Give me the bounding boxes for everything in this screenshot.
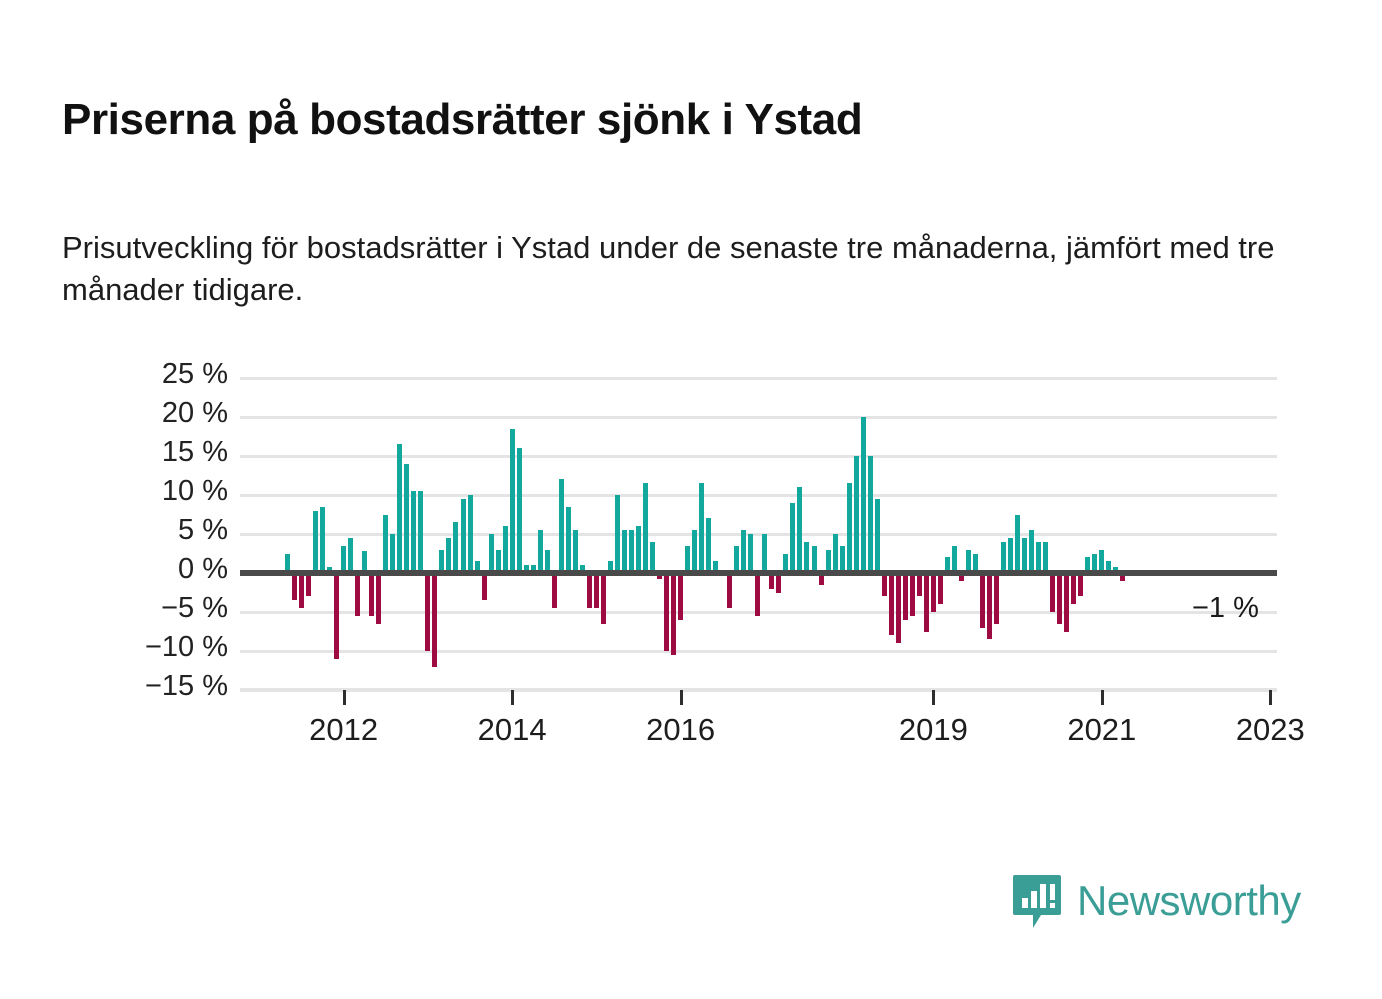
chart-bar bbox=[552, 573, 557, 608]
chart-bar bbox=[348, 538, 353, 573]
chart-bar bbox=[601, 573, 606, 624]
chart-bar bbox=[1050, 573, 1055, 612]
x-axis-tick-mark bbox=[680, 690, 683, 705]
chart-bar bbox=[952, 546, 957, 573]
chart-bar bbox=[678, 573, 683, 620]
chart-bar bbox=[664, 573, 669, 651]
chart-bar bbox=[748, 534, 753, 573]
x-axis-tick-mark bbox=[932, 690, 935, 705]
chart-bar bbox=[573, 530, 578, 573]
chart-bar bbox=[854, 456, 859, 573]
y-axis-tick-label: 5 % bbox=[0, 514, 228, 547]
chart-bar bbox=[292, 573, 297, 600]
chart-bar bbox=[840, 546, 845, 573]
chart-bar bbox=[1015, 515, 1020, 574]
chart-bar bbox=[383, 515, 388, 574]
x-axis-tick-label: 2012 bbox=[309, 712, 378, 748]
chart-bar bbox=[1064, 573, 1069, 632]
logo-wordmark: Newsworthy bbox=[1077, 877, 1301, 925]
chart-bar bbox=[692, 530, 697, 573]
chart-bar bbox=[790, 503, 795, 573]
chart-bar bbox=[1043, 542, 1048, 573]
chart-bar bbox=[699, 483, 704, 573]
chart-bar bbox=[1001, 542, 1006, 573]
chart-bar bbox=[538, 530, 543, 573]
chart-bar bbox=[797, 487, 802, 573]
chart-bar bbox=[594, 573, 599, 608]
chart-bar bbox=[861, 417, 866, 573]
chart-bar bbox=[306, 573, 311, 596]
chart-bar bbox=[868, 456, 873, 573]
chart-bar bbox=[706, 518, 711, 573]
chart-bar bbox=[938, 573, 943, 604]
chart-bar bbox=[411, 491, 416, 573]
chart-bar bbox=[432, 573, 437, 667]
infographic-page: Priserna på bostadsrätter sjönk i Ystad … bbox=[0, 0, 1382, 999]
chart-bar bbox=[1022, 538, 1027, 573]
chart-bar bbox=[804, 542, 809, 573]
chart-bar bbox=[875, 499, 880, 573]
chart-bar bbox=[734, 546, 739, 573]
chart-bar bbox=[762, 534, 767, 573]
chart-bar bbox=[517, 448, 522, 573]
chart-bar bbox=[376, 573, 381, 624]
chart-bar bbox=[425, 573, 430, 651]
chart-bar bbox=[924, 573, 929, 632]
chart-bar bbox=[390, 534, 395, 573]
chart-bar bbox=[741, 530, 746, 573]
chart-bar bbox=[461, 499, 466, 573]
chart-bars bbox=[240, 378, 1277, 690]
chart-bar bbox=[482, 573, 487, 600]
chart-bar bbox=[334, 573, 339, 659]
x-axis-tick-label: 2014 bbox=[478, 712, 547, 748]
chart-bar bbox=[847, 483, 852, 573]
chart-bar bbox=[587, 573, 592, 608]
x-axis-tick-label: 2023 bbox=[1236, 712, 1305, 748]
chart-bar bbox=[320, 507, 325, 573]
chart-bar bbox=[987, 573, 992, 639]
chart-bar bbox=[1078, 573, 1083, 596]
chart-bar bbox=[559, 479, 564, 573]
chart-bar bbox=[833, 534, 838, 573]
chart-bar bbox=[685, 546, 690, 573]
chart-bar bbox=[671, 573, 676, 655]
x-axis-tick-label: 2016 bbox=[646, 712, 715, 748]
chart-bar bbox=[566, 507, 571, 573]
chart-bar bbox=[980, 573, 985, 628]
chart-bar bbox=[910, 573, 915, 616]
chart-bar bbox=[313, 511, 318, 573]
y-axis-tick-label: 20 % bbox=[0, 397, 228, 430]
x-axis-tick-label: 2019 bbox=[899, 712, 968, 748]
chart-bar bbox=[622, 530, 627, 573]
chart-bar bbox=[1029, 530, 1034, 573]
chart-bar bbox=[636, 526, 641, 573]
chart-bar bbox=[650, 542, 655, 573]
x-axis-tick-mark bbox=[1269, 690, 1272, 705]
chart-bar bbox=[882, 573, 887, 596]
zero-line bbox=[240, 570, 1277, 576]
chart-bar bbox=[446, 538, 451, 573]
x-axis-tick-label: 2021 bbox=[1067, 712, 1136, 748]
chart-bar bbox=[917, 573, 922, 596]
x-axis-tick-mark bbox=[511, 690, 514, 705]
chart-bar bbox=[931, 573, 936, 612]
bar-chart: 25 %20 %15 %10 %5 %0 %−5 %−10 %−15 %2012… bbox=[0, 0, 1382, 999]
chart-bar bbox=[755, 573, 760, 616]
y-axis-tick-label: 15 % bbox=[0, 436, 228, 469]
chart-bar bbox=[629, 530, 634, 573]
chart-bar bbox=[889, 573, 894, 635]
newsworthy-bar-chart-bubble-icon bbox=[1011, 873, 1063, 929]
chart-bar bbox=[1071, 573, 1076, 604]
chart-bar bbox=[896, 573, 901, 643]
chart-bar bbox=[355, 573, 360, 616]
chart-bar bbox=[468, 495, 473, 573]
chart-bar bbox=[503, 526, 508, 573]
chart-bar bbox=[397, 444, 402, 573]
chart-bar bbox=[404, 464, 409, 573]
newsworthy-logo: Newsworthy bbox=[1011, 873, 1301, 929]
y-axis-tick-label: −5 % bbox=[0, 592, 228, 625]
y-axis-tick-label: 25 % bbox=[0, 358, 228, 391]
y-axis-tick-label: 10 % bbox=[0, 475, 228, 508]
chart-bar bbox=[453, 522, 458, 573]
y-axis-tick-label: 0 % bbox=[0, 553, 228, 586]
chart-bar bbox=[341, 546, 346, 573]
chart-bar bbox=[1036, 542, 1041, 573]
chart-bar bbox=[615, 495, 620, 573]
chart-bar bbox=[510, 429, 515, 573]
chart-bar bbox=[369, 573, 374, 616]
chart-bar bbox=[994, 573, 999, 624]
chart-bar bbox=[812, 546, 817, 573]
chart-bar bbox=[489, 534, 494, 573]
chart-bar bbox=[1008, 538, 1013, 573]
chart-bar bbox=[418, 491, 423, 573]
chart-plot-area bbox=[240, 378, 1277, 690]
y-axis-tick-label: −10 % bbox=[0, 631, 228, 664]
chart-bar bbox=[643, 483, 648, 573]
x-axis-tick-mark bbox=[1101, 690, 1104, 705]
chart-bar bbox=[299, 573, 304, 608]
chart-bar bbox=[1057, 573, 1062, 624]
x-axis-tick-mark bbox=[343, 690, 346, 705]
chart-bar bbox=[903, 573, 908, 620]
y-axis-tick-label: −15 % bbox=[0, 670, 228, 703]
chart-bar bbox=[727, 573, 732, 608]
